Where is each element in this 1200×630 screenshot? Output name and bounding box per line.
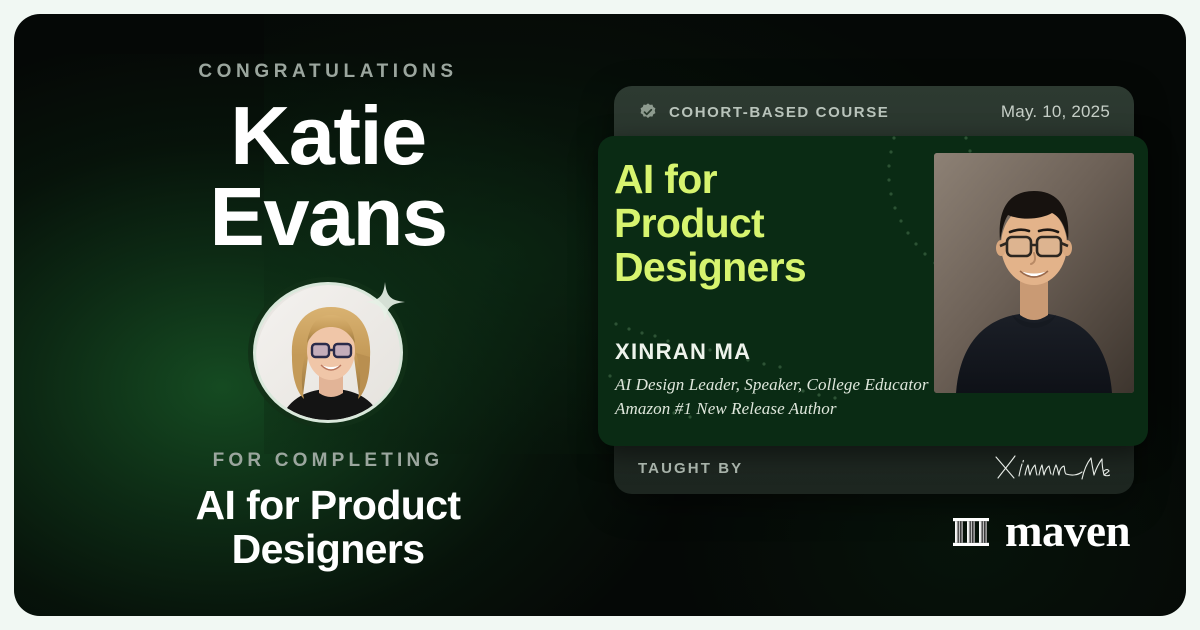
completed-course-name: AI for Product Designers (196, 484, 461, 572)
cohort-based-course-label: COHORT-BASED COURSE (669, 104, 889, 121)
completed-course-line-1: AI for Product (196, 484, 461, 528)
course-card: COHORT-BASED COURSE May. 10, 2025 (614, 86, 1134, 494)
instructor-bio-line-2: Amazon #1 New Release Author (615, 397, 929, 421)
recipient-last-name: Evans (209, 176, 446, 257)
course-date: May. 10, 2025 (1001, 102, 1110, 122)
course-title-line-3: Designers (614, 246, 914, 290)
instructor-bio-line-1: AI Design Leader, Speaker, College Educa… (615, 373, 929, 397)
maven-wordmark: maven (1005, 509, 1130, 554)
avatar (253, 282, 403, 424)
course-card-body: AI for Product Designers XINRAN MA AI De… (598, 136, 1148, 446)
verified-check-icon (638, 102, 658, 122)
course-title-line-1: AI for (614, 158, 914, 202)
maven-logo: maven (951, 509, 1130, 554)
avatar-ring (253, 282, 403, 424)
certificate-page: CONGRATULATIONS Katie Evans (0, 0, 1200, 630)
instructor-photo (934, 153, 1134, 393)
dark-panel: CONGRATULATIONS Katie Evans (14, 14, 1186, 616)
course-title: AI for Product Designers (614, 158, 914, 290)
recipient-first-name: Katie (209, 95, 446, 176)
instructor-signature (992, 451, 1110, 485)
congratulations-block: CONGRATULATIONS Katie Evans (42, 62, 614, 572)
for-completing-eyebrow: FOR COMPLETING (213, 451, 444, 470)
instructor-bio: AI Design Leader, Speaker, College Educa… (615, 373, 929, 421)
course-card-footer: TAUGHT BY (614, 442, 1134, 494)
instructor-name: XINRAN MA (615, 339, 751, 365)
avatar-photo (256, 285, 400, 421)
congratulations-eyebrow: CONGRATULATIONS (198, 62, 457, 81)
course-card-header: COHORT-BASED COURSE May. 10, 2025 (614, 86, 1134, 138)
course-title-line-2: Product (614, 202, 914, 246)
taught-by-label: TAUGHT BY (638, 460, 743, 477)
completed-course-line-2: Designers (196, 528, 461, 572)
recipient-name: Katie Evans (209, 95, 446, 258)
maven-column-icon (951, 512, 991, 552)
